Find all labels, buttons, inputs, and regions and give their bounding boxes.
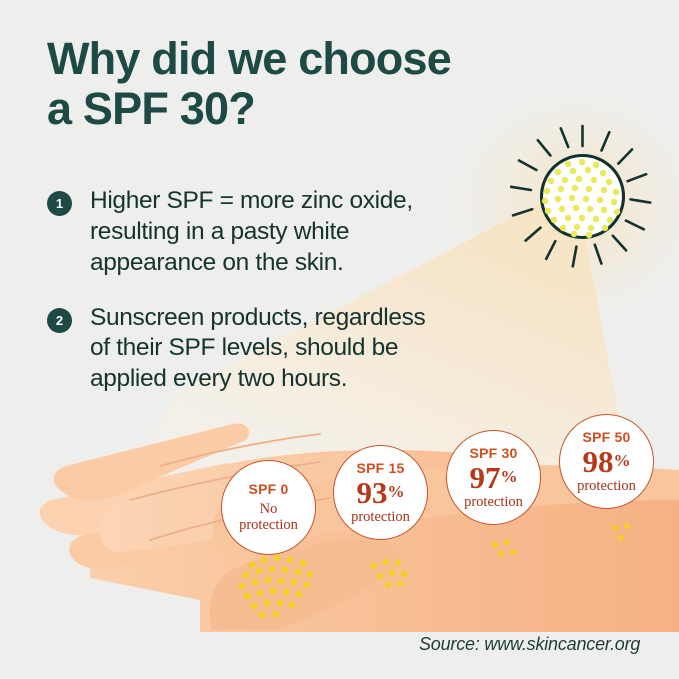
infographic-canvas: Why did we choose a SPF 30? 1 Higher SPF… bbox=[0, 0, 679, 679]
source-attribution: Source: www.skincancer.org bbox=[419, 634, 640, 655]
spf-label: SPF 15 bbox=[357, 460, 405, 476]
spf-sub: No protection bbox=[239, 502, 298, 533]
percent-sign: % bbox=[501, 467, 518, 486]
spf-percent-value: 93 bbox=[357, 475, 388, 510]
spf-percent: 98% bbox=[583, 446, 631, 478]
spf-badge-0[interactable]: SPF 0 No protection bbox=[221, 460, 316, 555]
spf-percent-value: 98 bbox=[583, 444, 614, 479]
spf-badge-50[interactable]: SPF 50 98% protection bbox=[559, 414, 654, 509]
spf-sub-line: protection bbox=[239, 518, 298, 534]
percent-sign: % bbox=[614, 451, 631, 470]
spf-label: SPF 50 bbox=[583, 429, 631, 445]
spf-sub: protection bbox=[351, 510, 410, 526]
spf-sub: protection bbox=[464, 495, 523, 511]
percent-sign: % bbox=[388, 482, 405, 501]
spf-badge-30[interactable]: SPF 30 97% protection bbox=[446, 430, 541, 525]
spf-sub: protection bbox=[577, 479, 636, 495]
spf-label: SPF 30 bbox=[470, 445, 518, 461]
spf-percent-value: 97 bbox=[470, 460, 501, 495]
spf-percent: 93% bbox=[357, 477, 405, 509]
spf-percent: 97% bbox=[470, 462, 518, 494]
hand-arm-icon bbox=[0, 0, 679, 679]
spf-badge-15[interactable]: SPF 15 93% protection bbox=[333, 445, 428, 540]
spf-sub-line: No bbox=[239, 502, 298, 518]
spf-label: SPF 0 bbox=[249, 481, 289, 497]
